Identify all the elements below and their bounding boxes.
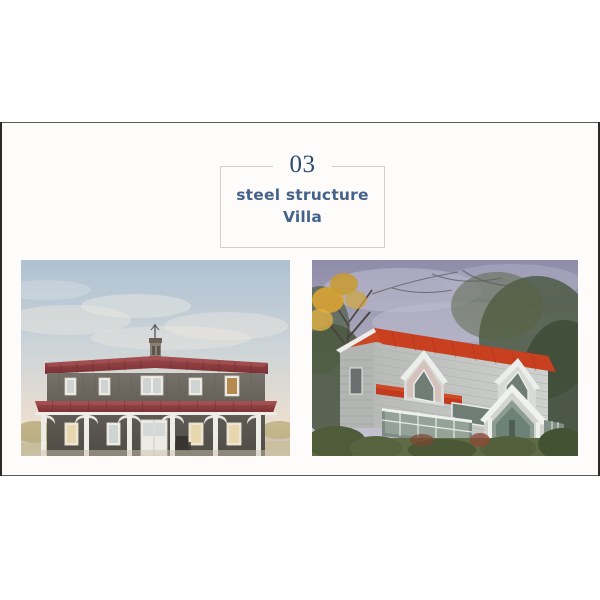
card-heading: steel structure Villa bbox=[220, 184, 385, 228]
screenshot-canvas: 03 steel structure Villa bbox=[0, 0, 600, 600]
card-number: 03 bbox=[273, 147, 332, 183]
frame-rule-bottom bbox=[0, 475, 600, 476]
card-heading-line-2: Villa bbox=[220, 206, 385, 228]
title-card-border-top-right bbox=[332, 166, 385, 167]
card-heading-line-1: steel structure bbox=[220, 184, 385, 206]
title-card: 03 steel structure Villa bbox=[220, 147, 385, 248]
title-card-border-bottom bbox=[220, 247, 385, 248]
photo-villa bbox=[312, 260, 578, 456]
photo-farmhouse bbox=[21, 260, 290, 456]
farmhouse-illustration bbox=[21, 260, 290, 456]
villa-illustration bbox=[312, 260, 578, 456]
title-card-border-top-left bbox=[220, 166, 273, 167]
